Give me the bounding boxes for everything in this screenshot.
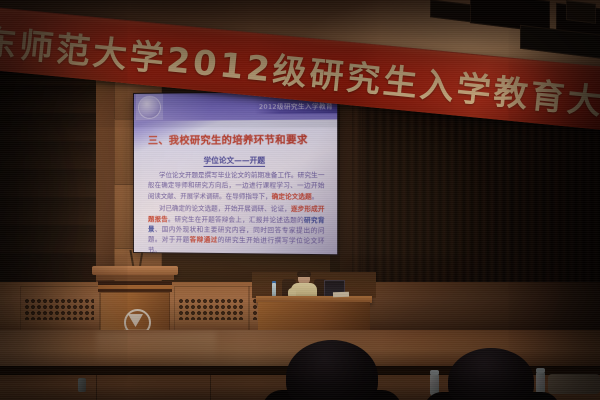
university-logo-icon: [139, 97, 160, 118]
slide-body-text: 学位论文开题是撰写毕业论文的前期准备工作。研究生一般在确定导师和研究方向后，一边…: [148, 170, 325, 254]
podium-lip: [96, 275, 174, 280]
slide-text-segment: 对已确定的论文选题，开始开展调研、论证，: [159, 204, 291, 213]
slide-subtitle: 学位论文——开题: [134, 154, 337, 166]
slide-text-segment: 。: [312, 192, 319, 200]
documents: [333, 292, 349, 298]
slide-subtitle-text: 学位论文——开题: [204, 156, 266, 167]
auditorium-photo: 2012级研究生入学教育 三、我校研究生的培养环节和要求 学位论文——开题 学位…: [0, 0, 600, 400]
wainscot-shadow: [345, 282, 600, 334]
wainscot-panel: [20, 286, 100, 332]
panel-seam: [96, 375, 97, 400]
slide-text-segment: 答辩通过: [190, 236, 218, 244]
folded-cloth: [548, 374, 600, 394]
slide-text-segment: 确定论文选题: [272, 192, 312, 200]
wainscot-panel: [174, 286, 250, 332]
slide-paragraph: 对已确定的论文选题，开始开展调研、论证，逐步形成开题报告。研究生在开题答辩会上，…: [148, 203, 325, 254]
left-wall-slats: [0, 70, 98, 310]
bottle-cap: [430, 370, 439, 375]
bottle-cap: [536, 368, 545, 373]
slide-paragraph: 学位论文开题是撰写毕业论文的前期准备工作。研究生一般在确定导师和研究方向后，一边…: [148, 170, 325, 202]
water-bottle: [272, 283, 276, 297]
slide-surface: 2012级研究生入学教育 三、我校研究生的培养环节和要求 学位论文——开题 学位…: [134, 92, 337, 255]
panel-seam: [210, 375, 211, 400]
podium-top: [92, 266, 178, 275]
projection-screen: 2012级研究生入学教育 三、我校研究生的培养环节和要求 学位论文——开题 学位…: [133, 91, 338, 256]
slide-text-segment: 。研究生在开题答辩会上，汇报并论述选题的: [168, 215, 304, 224]
ceiling-vent-icon: [566, 0, 596, 24]
slide-title: 三、我校研究生的培养环节和要求: [148, 131, 329, 147]
water-bottle: [78, 378, 86, 392]
water-bottle: [536, 372, 545, 394]
